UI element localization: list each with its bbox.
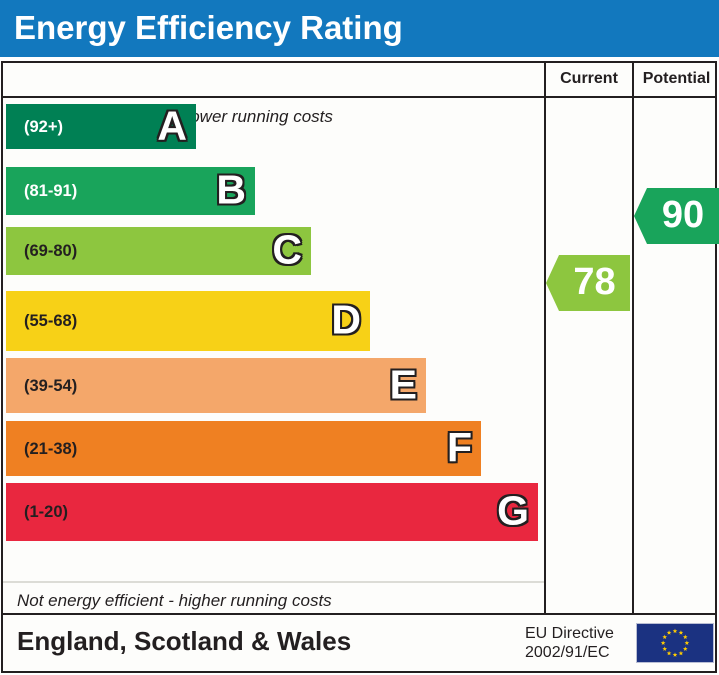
band-range-f: (21-38): [24, 440, 77, 457]
directive-line-1: EU Directive: [525, 624, 614, 643]
band-range-c: (69-80): [24, 243, 77, 260]
band-range-g: (1-20): [24, 504, 68, 521]
band-range-d: (55-68): [24, 313, 77, 330]
band-bar-d: (55-68)D: [6, 291, 370, 351]
band-bar-b: (81-91)B: [6, 167, 255, 215]
directive-line-2: 2002/91/EC: [525, 643, 614, 662]
band-bar-e: (39-54)E: [6, 358, 426, 413]
caption-inefficient: Not energy efficient - higher running co…: [17, 591, 332, 611]
column-divider-current: [544, 63, 546, 613]
current-rating-value: 78: [559, 263, 630, 301]
potential-rating-value: 90: [647, 196, 719, 234]
band-letter-b: B: [216, 170, 246, 211]
band-range-a: (92+): [24, 118, 63, 135]
band-bar-c: (69-80)C: [6, 227, 311, 275]
band-bar-f: (21-38)F: [6, 421, 481, 476]
column-header-potential: Potential: [634, 70, 719, 88]
band-range-e: (39-54): [24, 377, 77, 394]
band-bar-a: (92+)A: [6, 104, 196, 149]
band-letter-a: A: [157, 105, 187, 146]
footer-region-label: England, Scotland & Wales: [17, 626, 351, 657]
potential-rating-arrow: 90: [634, 188, 719, 244]
band-letter-c: C: [272, 230, 302, 271]
current-rating-arrow: 78: [546, 255, 630, 311]
caption-divider: [3, 581, 544, 583]
chart-header: Energy Efficiency Rating: [0, 0, 719, 57]
band-letter-e: E: [390, 364, 417, 405]
column-divider-potential: [632, 63, 634, 613]
band-letter-g: G: [497, 491, 529, 532]
band-range-b: (81-91): [24, 183, 77, 200]
band-bars: (92+)A(81-91)B(69-80)C(55-68)D(39-54)E(2…: [3, 98, 544, 581]
band-letter-f: F: [447, 427, 472, 468]
eu-flag-icon: [636, 623, 714, 663]
page-title: Energy Efficiency Rating: [14, 6, 403, 50]
energy-efficiency-rating-chart: Energy Efficiency Rating Current Potenti…: [0, 0, 719, 675]
band-letter-d: D: [331, 300, 361, 341]
rating-table: Current Potential Very energy efficient …: [1, 61, 717, 615]
chart-footer: England, Scotland & Wales EU Directive 2…: [1, 615, 717, 673]
band-bar-g: (1-20)G: [6, 483, 538, 541]
footer-directive-label: EU Directive 2002/91/EC: [525, 624, 614, 662]
column-header-current: Current: [546, 70, 632, 88]
